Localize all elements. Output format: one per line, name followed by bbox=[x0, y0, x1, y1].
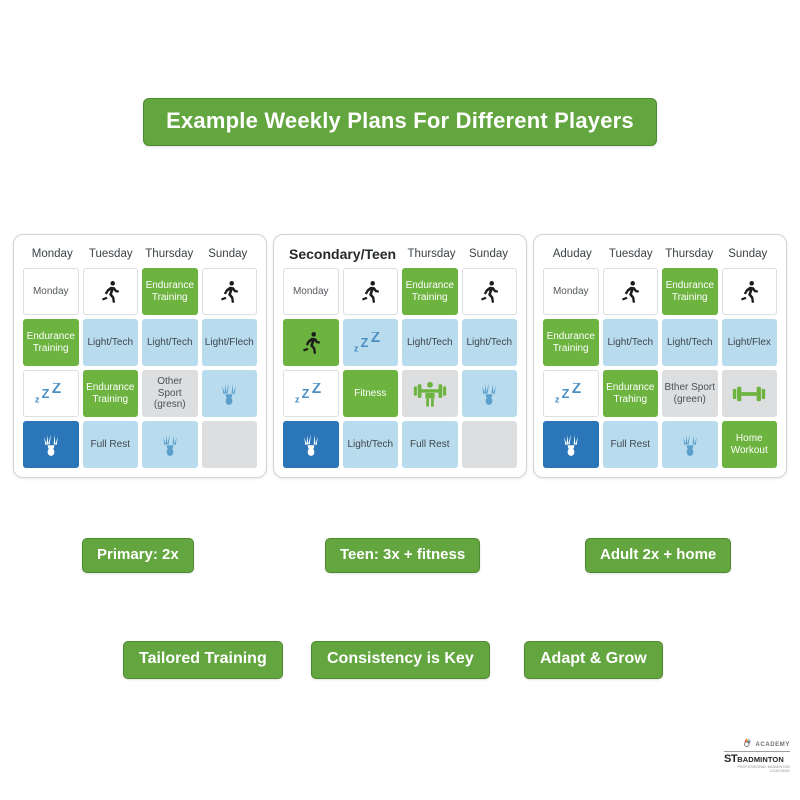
schedule-cell[interactable]: Light/Flech bbox=[202, 319, 258, 366]
page-title: Example Weekly Plans For Different Playe… bbox=[143, 98, 657, 146]
running-icon bbox=[357, 279, 383, 305]
logo-top-row: ACADEMY bbox=[724, 738, 790, 751]
schedule-cell[interactable]: Light/Tech bbox=[402, 319, 458, 366]
schedule-cell[interactable] bbox=[202, 421, 258, 468]
schedule-cell-label: Light/Tech bbox=[147, 337, 193, 349]
card-header-row: AdudayTuesdayThursdaySunday bbox=[543, 243, 777, 265]
column-header: Tuesday bbox=[602, 248, 661, 260]
weekly-plan-cards-row: MondayTuesdayThursdaySundayMondayEnduran… bbox=[0, 234, 800, 478]
column-header: Thursday bbox=[403, 248, 460, 260]
schedule-cell-label: Light/Tech bbox=[87, 337, 133, 349]
primary-plan-card: MondayTuesdayThursdaySundayMondayEnduran… bbox=[13, 234, 267, 478]
schedule-cell[interactable]: Endurance Training bbox=[543, 319, 599, 366]
column-header: Sunday bbox=[719, 248, 778, 260]
schedule-cell-label: Monday bbox=[553, 286, 589, 298]
svg-text:Z: Z bbox=[301, 387, 309, 401]
schedule-cell-label: Light/Flex bbox=[728, 337, 771, 349]
schedule-cell[interactable]: Full Rest bbox=[603, 421, 659, 468]
dumbbell-icon bbox=[732, 384, 766, 404]
schedule-cell-icon[interactable]: zZZ bbox=[23, 370, 79, 417]
shuttlecock-logo-icon bbox=[741, 736, 753, 754]
schedule-cell[interactable]: Endurance Training bbox=[23, 319, 79, 366]
schedule-cell[interactable]: Light/Tech bbox=[462, 319, 518, 366]
teen-plan-card: Secondary/TeenThursdaySundayMondayEndura… bbox=[273, 234, 527, 478]
schedule-cell[interactable]: Endurance Trahing bbox=[603, 370, 659, 417]
schedule-cell[interactable] bbox=[462, 421, 518, 468]
schedule-cell-icon[interactable] bbox=[202, 370, 258, 417]
schedule-cell[interactable]: Endurance Training bbox=[402, 268, 458, 315]
schedule-cell-label: Other Sport (gresn) bbox=[144, 376, 196, 411]
schedule-cell-icon[interactable] bbox=[283, 319, 339, 366]
sleep-icon: zZZ bbox=[34, 383, 68, 405]
schedule-cell[interactable]: Light/Tech bbox=[142, 319, 198, 366]
svg-text:z: z bbox=[295, 394, 300, 404]
schedule-cell-icon[interactable] bbox=[543, 421, 599, 468]
shuttlecock-icon bbox=[298, 431, 324, 459]
schedule-grid: MondayEndurance TrainingEndurance Traini… bbox=[543, 268, 777, 468]
schedule-cell[interactable]: Endurance Training bbox=[662, 268, 718, 315]
level-pill-adult[interactable]: Adult 2x + home bbox=[585, 538, 731, 573]
schedule-cell-icon[interactable] bbox=[23, 421, 79, 468]
column-header: Thursday bbox=[140, 248, 199, 260]
schedule-cell-label: Light/Tech bbox=[607, 337, 653, 349]
schedule-cell-label: Endurance Training bbox=[404, 280, 456, 303]
svg-text:Z: Z bbox=[41, 387, 49, 401]
schedule-cell-icon[interactable] bbox=[202, 268, 258, 315]
schedule-cell-icon[interactable] bbox=[722, 268, 778, 315]
svg-text:z: z bbox=[354, 343, 359, 353]
schedule-cell-label: Light/Tech bbox=[407, 337, 453, 349]
column-header: Aduday bbox=[543, 248, 602, 260]
card-header-row: Secondary/TeenThursdaySunday bbox=[283, 243, 517, 265]
schedule-cell-label: Endurance Training bbox=[545, 331, 597, 354]
schedule-cell[interactable]: Endurance Training bbox=[83, 370, 139, 417]
column-header: Tuesday bbox=[82, 248, 141, 260]
running-icon bbox=[476, 279, 502, 305]
logo-bottom-row: ST BADMINTON bbox=[724, 751, 790, 765]
schedule-cell-label: Light/Tech bbox=[667, 337, 713, 349]
sleep-icon: zZZ bbox=[353, 332, 387, 354]
shuttlecock-icon bbox=[157, 431, 183, 459]
schedule-cell[interactable]: Monday bbox=[23, 268, 79, 315]
schedule-cell-icon[interactable]: zZZ bbox=[343, 319, 399, 366]
running-icon bbox=[298, 330, 324, 356]
schedule-cell-icon[interactable] bbox=[722, 370, 778, 417]
schedule-cell-label: Light/Tech bbox=[347, 439, 393, 451]
shuttlecock-icon bbox=[677, 431, 703, 459]
schedule-cell-icon[interactable] bbox=[462, 370, 518, 417]
running-icon bbox=[97, 279, 123, 305]
running-icon bbox=[736, 279, 762, 305]
level-pill-primary[interactable]: Primary: 2x bbox=[82, 538, 194, 573]
schedule-cell[interactable]: Bther Sport (green) bbox=[662, 370, 718, 417]
schedule-cell[interactable]: Full Rest bbox=[402, 421, 458, 468]
schedule-cell-label: Light/Flech bbox=[205, 337, 254, 349]
shuttlecock-icon bbox=[216, 380, 242, 408]
schedule-cell-icon[interactable] bbox=[402, 370, 458, 417]
schedule-cell-icon[interactable]: zZZ bbox=[543, 370, 599, 417]
schedule-cell[interactable]: Light/Flex bbox=[722, 319, 778, 366]
brand-logo: ACADEMY ST BADMINTON PROFESSIONAL BADMIN… bbox=[724, 738, 790, 768]
message-pill-adapt-and-grow[interactable]: Adapt & Grow bbox=[524, 641, 663, 679]
message-pill-consistency-is-key[interactable]: Consistency is Key bbox=[311, 641, 490, 679]
svg-text:Z: Z bbox=[371, 332, 380, 346]
column-header: Sunday bbox=[460, 248, 517, 260]
schedule-grid: MondayEndurance TrainingEndurance Traini… bbox=[23, 268, 257, 468]
logo-st-text: ST bbox=[724, 753, 737, 765]
shuttlecock-icon bbox=[476, 380, 502, 408]
schedule-cell[interactable]: Fitness bbox=[343, 370, 399, 417]
schedule-cell-icon[interactable] bbox=[603, 268, 659, 315]
title-area: Example Weekly Plans For Different Playe… bbox=[0, 98, 800, 146]
schedule-grid: MondayEndurance TrainingzZZLight/TechLig… bbox=[283, 268, 517, 468]
schedule-cell[interactable]: Light/Tech bbox=[83, 319, 139, 366]
running-icon bbox=[216, 279, 242, 305]
svg-text:z: z bbox=[35, 394, 40, 404]
schedule-cell-label: Endurance Training bbox=[664, 280, 716, 303]
schedule-cell[interactable]: Light/Tech bbox=[343, 421, 399, 468]
schedule-cell-icon[interactable] bbox=[83, 268, 139, 315]
level-pill-teen[interactable]: Teen: 3x + fitness bbox=[325, 538, 480, 573]
schedule-cell[interactable]: Full Rest bbox=[83, 421, 139, 468]
schedule-cell-icon[interactable]: zZZ bbox=[283, 370, 339, 417]
card-header-row: MondayTuesdayThursdaySunday bbox=[23, 243, 257, 265]
schedule-cell[interactable]: Monday bbox=[283, 268, 339, 315]
svg-text:Z: Z bbox=[361, 336, 369, 350]
sleep-icon: zZZ bbox=[294, 383, 328, 405]
schedule-cell-label: Endurance Training bbox=[25, 331, 77, 354]
column-header: Sunday bbox=[199, 248, 258, 260]
message-pill-tailored-training[interactable]: Tailored Training bbox=[123, 641, 283, 679]
schedule-cell-icon[interactable] bbox=[142, 421, 198, 468]
schedule-cell-label: Endurance Trahing bbox=[605, 382, 657, 405]
schedule-cell[interactable]: Light/Tech bbox=[662, 319, 718, 366]
schedule-cell-label: Monday bbox=[33, 286, 69, 298]
schedule-cell-icon[interactable] bbox=[343, 268, 399, 315]
schedule-cell-label: Full Rest bbox=[91, 439, 130, 451]
column-header: Thursday bbox=[660, 248, 719, 260]
schedule-cell-label: Home Workout bbox=[724, 433, 776, 456]
schedule-cell-icon[interactable] bbox=[283, 421, 339, 468]
schedule-cell-label: Full Rest bbox=[410, 439, 449, 451]
column-header: Monday bbox=[23, 248, 82, 260]
schedule-cell-label: Bther Sport (green) bbox=[664, 382, 716, 405]
schedule-cell[interactable]: Endurance Training bbox=[142, 268, 198, 315]
column-header: Secondary/Teen bbox=[283, 246, 403, 262]
shuttlecock-icon bbox=[38, 431, 64, 459]
running-icon bbox=[617, 279, 643, 305]
schedule-cell-label: Endurance Training bbox=[144, 280, 196, 303]
schedule-cell-label: Monday bbox=[293, 286, 329, 298]
schedule-cell[interactable]: Monday bbox=[543, 268, 599, 315]
svg-text:Z: Z bbox=[312, 383, 321, 397]
logo-tagline: PROFESSIONAL BADMINTON COACHING bbox=[724, 765, 790, 773]
svg-text:z: z bbox=[555, 394, 560, 404]
svg-text:Z: Z bbox=[52, 383, 61, 397]
schedule-cell[interactable]: Other Sport (gresn) bbox=[142, 370, 198, 417]
schedule-cell-label: Light/Tech bbox=[466, 337, 512, 349]
sleep-icon: zZZ bbox=[554, 383, 588, 405]
adult-plan-card: AdudayTuesdayThursdaySundayMondayEnduran… bbox=[533, 234, 787, 478]
schedule-cell-label: Endurance Training bbox=[85, 382, 137, 405]
schedule-cell[interactable]: Home Workout bbox=[722, 421, 778, 468]
schedule-cell-label: Full Rest bbox=[611, 439, 650, 451]
schedule-cell-icon[interactable] bbox=[662, 421, 718, 468]
logo-academy-text: ACADEMY bbox=[755, 742, 790, 748]
schedule-cell[interactable]: Light/Tech bbox=[603, 319, 659, 366]
schedule-cell-icon[interactable] bbox=[462, 268, 518, 315]
schedule-cell-label: Fitness bbox=[354, 388, 386, 400]
svg-text:Z: Z bbox=[572, 383, 581, 397]
svg-text:Z: Z bbox=[561, 387, 569, 401]
shuttlecock-icon bbox=[558, 431, 584, 459]
logo-badminton-text: BADMINTON bbox=[737, 755, 784, 764]
weightlifter-icon bbox=[413, 380, 447, 408]
